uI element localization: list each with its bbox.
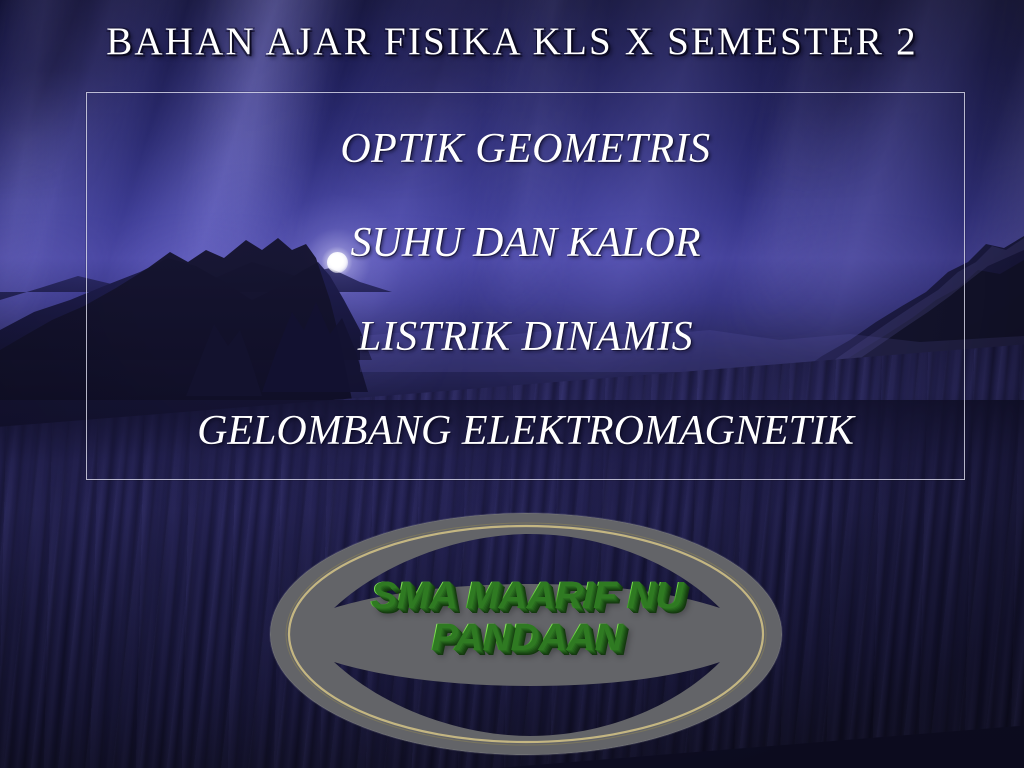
presentation-slide: BAHAN AJAR FISIKA KLS X SEMESTER 2 OPTIK… bbox=[0, 0, 1024, 768]
slide-title: BAHAN AJAR FISIKA KLS X SEMESTER 2 bbox=[0, 18, 1024, 66]
logo-emblem-shape bbox=[268, 512, 784, 757]
topic-item-gelombang-elektromagnetik: GELOMBANG ELEKTROMAGNETIK bbox=[197, 405, 854, 457]
topic-list: OPTIK GEOMETRIS SUHU DAN KALOR LISTRIK D… bbox=[86, 92, 965, 480]
topic-item-listrik-dinamis: LISTRIK DINAMIS bbox=[358, 311, 693, 363]
school-logo: SMA MAARIF NU PANDAAN bbox=[268, 512, 784, 757]
topic-item-suhu-dan-kalor: SUHU DAN KALOR bbox=[350, 217, 700, 269]
topic-item-optik-geometris: OPTIK GEOMETRIS bbox=[340, 123, 710, 175]
